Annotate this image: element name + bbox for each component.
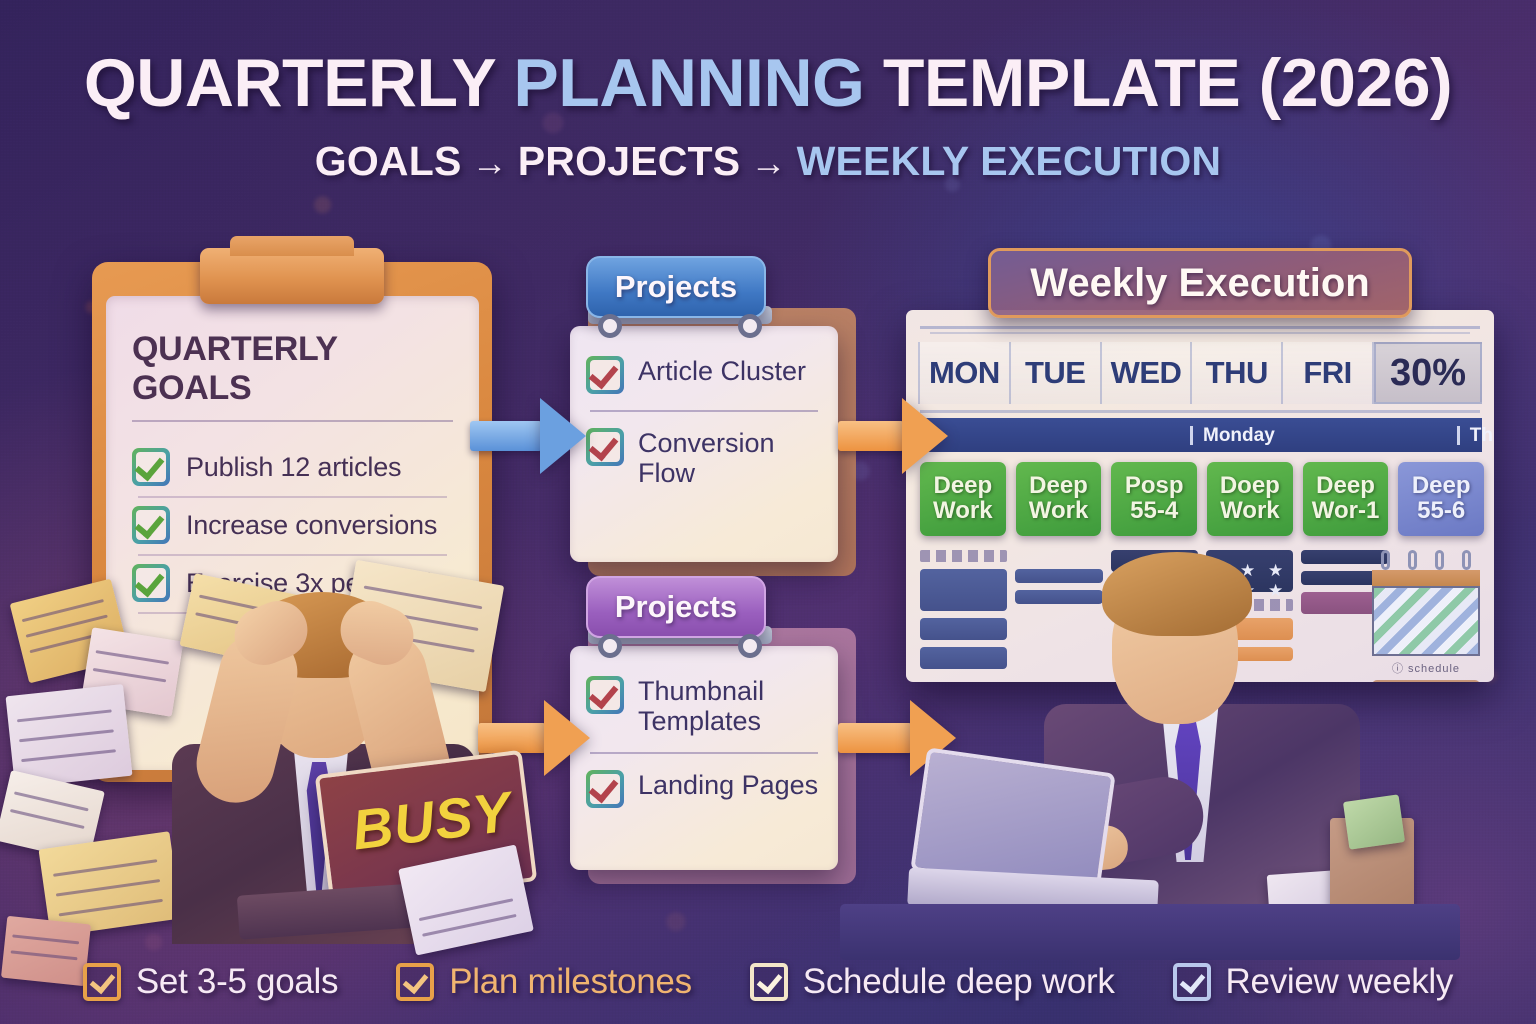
project-label: Article Cluster <box>638 356 806 386</box>
band-label-monday: Monday <box>1190 426 1275 445</box>
chip-line-2: Work <box>1029 499 1089 524</box>
progress-badge: 30% <box>1374 342 1482 404</box>
project-label: Thumbnail Templates <box>638 676 822 736</box>
chip-line-2: Work <box>1220 499 1280 524</box>
task-chip[interactable]: Deep Work <box>1016 462 1102 536</box>
chip-line-1: Deep <box>1029 474 1088 499</box>
arrow-head <box>540 398 586 474</box>
project-label: Conversion Flow <box>638 428 822 488</box>
placeholder-block <box>920 569 1007 611</box>
chip-line-1: Deep <box>933 474 992 499</box>
checkmark-icon <box>403 968 429 994</box>
arrow-shaft <box>838 421 904 451</box>
focused-person-illustration <box>1030 536 1430 956</box>
note-line <box>10 950 77 960</box>
title-part-template: TEMPLATE (2026) <box>864 45 1452 121</box>
checkbox-checked-icon[interactable] <box>396 963 434 1001</box>
checkbox-checked-icon[interactable] <box>132 448 170 486</box>
task-chip[interactable]: Deep 55-6 <box>1398 462 1484 536</box>
ring-icon <box>1462 550 1471 570</box>
weekday-header-row: MON TUE WED THU FRI 30% <box>918 342 1482 404</box>
weekly-execution-tab[interactable]: Weekly Execution <box>988 248 1412 318</box>
arrow-head <box>902 398 948 474</box>
project-divider <box>590 410 818 412</box>
placeholder-block <box>920 647 1007 669</box>
weekday-mon[interactable]: MON <box>918 342 1011 404</box>
checklist-item[interactable]: Set 3-5 goals <box>83 962 338 1002</box>
arrow-shaft <box>838 723 912 753</box>
checkmark-icon <box>589 359 619 390</box>
checkmark-icon <box>589 679 619 710</box>
note-line <box>19 729 113 742</box>
projects-card-1-body: Article Cluster Conversion Flow <box>570 326 838 562</box>
checklist-label: Review weekly <box>1226 962 1454 1002</box>
note-line <box>12 934 79 944</box>
chip-line-1: Deep <box>1316 474 1375 499</box>
bottom-checklist: Set 3-5 goals Plan milestones Schedule d… <box>0 962 1536 1002</box>
title-part-planning: PLANNING <box>513 45 864 121</box>
header: QUARTERLY PLANNING TEMPLATE (2026) GOALS… <box>0 0 1536 185</box>
ring-icon <box>598 314 622 338</box>
goal-label: Publish 12 articles <box>186 452 401 483</box>
subtitle-projects: PROJECTS <box>518 138 741 184</box>
note-line <box>22 749 116 762</box>
page-title: QUARTERLY PLANNING TEMPLATE (2026) <box>0 44 1536 122</box>
chip-line-1: Doep <box>1220 474 1280 499</box>
note-line <box>55 879 160 897</box>
placeholder-block <box>920 618 1007 640</box>
panel-rule-mid <box>920 410 1480 413</box>
checklist-label: Schedule deep work <box>803 962 1115 1002</box>
clipboard-clamp <box>200 248 384 304</box>
desk-card <box>1343 794 1405 849</box>
checkbox-checked-icon[interactable] <box>586 770 624 808</box>
ring-icon <box>738 314 762 338</box>
placeholder-text-line <box>920 550 1007 562</box>
project-divider <box>590 752 818 754</box>
projects-card-1: Projects Article Cluster Conversion Flow <box>570 318 838 562</box>
chip-line-2: 55-4 <box>1130 499 1178 524</box>
goal-label: Increase conversions <box>186 510 437 541</box>
projects-card-2: Projects Thumbnail Templates Landing Pag… <box>570 638 838 870</box>
note-line <box>53 859 158 877</box>
panel-rule-top <box>920 326 1480 329</box>
title-part-quarterly: QUARTERLY <box>84 45 514 121</box>
checklist-item[interactable]: Review weekly <box>1173 962 1454 1002</box>
weekday-fri[interactable]: FRI <box>1283 342 1374 404</box>
weekday-wed[interactable]: WED <box>1102 342 1193 404</box>
chip-line-1: Posp <box>1125 474 1184 499</box>
checkbox-checked-icon[interactable] <box>586 356 624 394</box>
subtitle-arrow-icon-2: → <box>740 142 796 183</box>
checkmark-icon <box>1179 968 1205 994</box>
stressed-person-illustration: BUSY <box>156 556 516 936</box>
day-label-band: Monday Thursday <box>918 418 1482 452</box>
note-line <box>58 899 163 917</box>
checkmark-icon <box>589 773 619 804</box>
arrow-projects-to-weekly-icon <box>838 398 948 474</box>
panel-rule-top-2 <box>930 332 1470 334</box>
weekday-thu[interactable]: THU <box>1192 342 1283 404</box>
ring-icon <box>598 634 622 658</box>
task-chip-row: Deep Work Deep Work Posp 55-4 Doep Work … <box>920 462 1484 536</box>
checkmark-icon <box>90 968 116 994</box>
checkmark-icon <box>756 968 782 994</box>
weekday-tue[interactable]: TUE <box>1011 342 1102 404</box>
project-item[interactable]: Article Cluster <box>586 352 822 398</box>
checklist-item[interactable]: Schedule deep work <box>750 962 1115 1002</box>
projects-card-2-tab[interactable]: Projects <box>586 576 766 638</box>
note-line <box>10 809 86 829</box>
subtitle-weekly-execution: WEEKLY EXECUTION <box>797 138 1222 184</box>
projects-card-1-tab[interactable]: Projects <box>586 256 766 318</box>
task-chip[interactable]: Deep Wor-1 <box>1303 462 1389 536</box>
ring-icon <box>738 634 762 658</box>
chip-line-2: Wor-1 <box>1312 499 1380 524</box>
projects-card-2-body: Thumbnail Templates Landing Pages <box>570 646 838 870</box>
arrow-goals-to-projects-icon <box>470 398 586 474</box>
checkbox-checked-icon[interactable] <box>586 676 624 714</box>
checkmark-icon <box>589 431 619 462</box>
checkmark-icon <box>135 451 165 482</box>
subtitle-goals: GOALS <box>315 138 462 184</box>
project-item[interactable]: Thumbnail Templates <box>586 672 822 740</box>
arrow-head <box>544 700 590 776</box>
detail-column <box>920 546 1007 676</box>
project-item[interactable]: Conversion Flow <box>586 424 822 492</box>
desk-surface <box>840 904 1460 960</box>
person-hair <box>1102 552 1252 636</box>
card-rings <box>598 314 778 338</box>
goal-item[interactable]: Publish 12 articles <box>132 440 453 496</box>
note-line <box>17 709 111 722</box>
chip-line-2: Work <box>933 499 993 524</box>
checkbox-checked-icon[interactable] <box>83 963 121 1001</box>
ring-icon <box>1435 550 1444 570</box>
checkmark-icon <box>135 509 165 540</box>
checklist-label: Set 3-5 goals <box>136 962 338 1002</box>
task-chip[interactable]: Posp 55-4 <box>1111 462 1197 536</box>
task-chip[interactable]: Doep Work <box>1207 462 1293 536</box>
note-line <box>14 791 90 811</box>
checkbox-checked-icon[interactable] <box>1173 963 1211 1001</box>
chip-line-1: Deep <box>1412 474 1471 499</box>
clipboard-heading: QUARTERLY GOALS <box>132 330 453 408</box>
checkbox-checked-icon[interactable] <box>132 506 170 544</box>
checkbox-checked-icon[interactable] <box>586 428 624 466</box>
checklist-item[interactable]: Plan milestones <box>396 962 692 1002</box>
project-item[interactable]: Landing Pages <box>586 766 822 812</box>
page-subtitle: GOALS→PROJECTS→WEEKLY EXECUTION <box>0 138 1536 185</box>
subtitle-arrow-icon-1: → <box>462 142 518 183</box>
arrow-shaft <box>470 421 542 451</box>
goal-item[interactable]: Increase conversions <box>132 498 453 554</box>
project-label: Landing Pages <box>638 770 818 800</box>
band-label-thursday: Thursday <box>1457 426 1494 445</box>
checklist-label: Plan milestones <box>449 962 692 1002</box>
chip-line-2: 55-6 <box>1417 499 1465 524</box>
checkbox-checked-icon[interactable] <box>750 963 788 1001</box>
clipboard-heading-rule <box>132 420 453 422</box>
card-rings <box>598 634 778 658</box>
